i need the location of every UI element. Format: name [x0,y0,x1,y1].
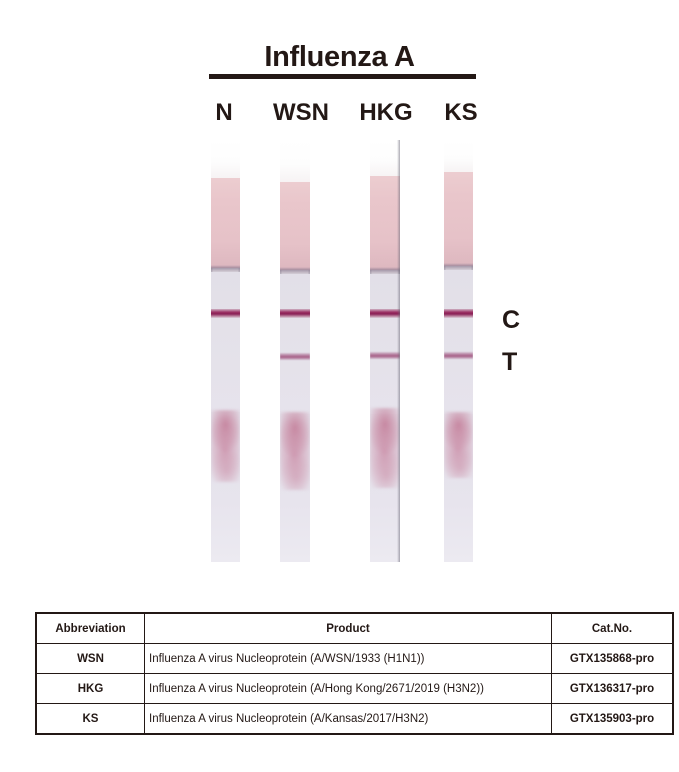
column-label-ks: KS [432,99,490,127]
cell-product: Influenza A virus Nucleoprotein (A/WSN/1… [145,644,552,674]
cell-cat-no: GTX136317-pro [552,674,674,704]
strip-edge-shadow-hkg [397,140,400,562]
test-strip-n [211,140,240,562]
cell-product: Influenza A virus Nucleoprotein (A/Kansa… [145,704,552,735]
figure-root: Influenza A N WSN HKG KS [0,0,679,772]
header-abbreviation: Abbreviation [36,613,145,644]
membrane-zone-wsn [280,274,310,414]
test-strip-hkg [370,140,400,562]
cell-cat-no: GTX135868-pro [552,644,674,674]
cell-product: Influenza A virus Nucleoprotein (A/Hong … [145,674,552,704]
legend-table: Abbreviation Product Cat.No. WSN Influen… [35,612,674,735]
table-row: HKG Influenza A virus Nucleoprotein (A/H… [36,674,673,704]
conjugate-zone-ks [444,172,473,266]
table-header-row: Abbreviation Product Cat.No. [36,613,673,644]
test-band-ks [444,352,473,359]
transition-band-ks [444,263,473,270]
control-band-hkg [370,309,400,318]
diffuse-blot-wsn [280,412,310,490]
test-strip-ks [444,140,473,562]
control-band-ks [444,309,473,318]
strip-top-pad-ks [444,140,473,174]
test-strip-wsn [280,140,310,562]
column-label-wsn: WSN [266,99,336,127]
test-band-hkg [370,352,400,359]
column-label-hkg: HKG [350,99,422,127]
strip-body-hkg [370,140,400,562]
cell-abbreviation: WSN [36,644,145,674]
diffuse-blot-ks [444,412,473,478]
conjugate-zone-wsn [280,182,310,270]
cell-abbreviation: KS [36,704,145,735]
header-product: Product [145,613,552,644]
strip-top-pad-hkg [370,140,400,178]
control-band-n [211,309,240,318]
legend-table-wrapper: Abbreviation Product Cat.No. WSN Influen… [35,612,646,735]
transition-band-n [211,265,240,272]
figure-title: Influenza A [0,40,679,74]
strip-body-n [211,140,240,562]
control-line-label: C [502,307,520,333]
membrane-zone-ks [444,270,473,414]
title-underline-rule [209,74,476,79]
test-band-wsn [280,353,310,360]
table-row: KS Influenza A virus Nucleoprotein (A/Ka… [36,704,673,735]
strip-top-pad-n [211,140,240,180]
strip-body-ks [444,140,473,562]
diffuse-blot-hkg [370,408,400,488]
conjugate-zone-hkg [370,176,400,270]
test-line-label: T [502,349,517,375]
membrane-zone-hkg [370,274,400,414]
diffuse-blot-n [211,410,240,482]
control-band-wsn [280,309,310,318]
table-row: WSN Influenza A virus Nucleoprotein (A/W… [36,644,673,674]
conjugate-zone-n [211,178,240,268]
strip-body-wsn [280,140,310,562]
header-cat-no: Cat.No. [552,613,674,644]
transition-band-hkg [370,267,400,274]
transition-band-wsn [280,267,310,274]
strip-top-pad-wsn [280,140,310,184]
membrane-zone-n [211,272,240,412]
cell-abbreviation: HKG [36,674,145,704]
cell-cat-no: GTX135903-pro [552,704,674,735]
column-label-n: N [199,99,249,127]
